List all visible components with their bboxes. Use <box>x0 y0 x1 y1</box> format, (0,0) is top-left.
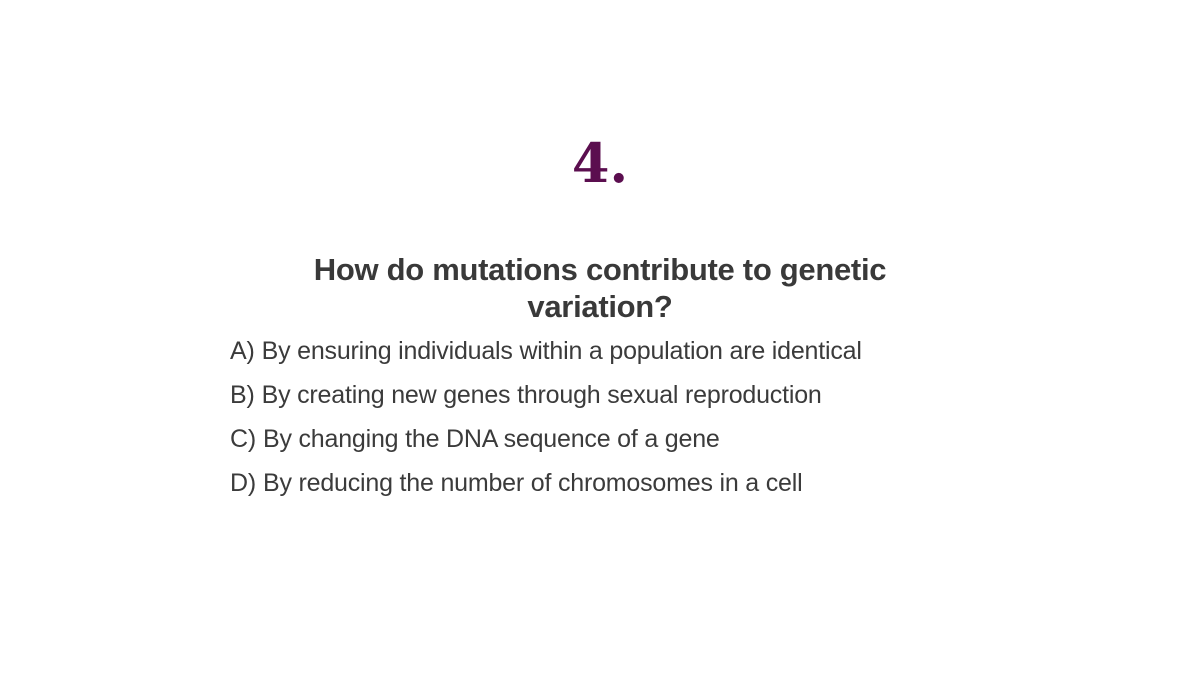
answer-option-b-text: By creating new genes through sexual rep… <box>262 381 822 409</box>
answer-options-list: A)By ensuring individuals within a popul… <box>230 334 1070 510</box>
question-heading: How do mutations contribute to genetic v… <box>270 251 930 325</box>
answer-option-d-text: By reducing the number of chromosomes in… <box>263 469 802 497</box>
question-number: 4. <box>0 136 1200 190</box>
quiz-slide: 4. How do mutations contribute to geneti… <box>0 0 1200 675</box>
answer-option-a[interactable]: A)By ensuring individuals within a popul… <box>230 334 1070 378</box>
answer-option-b-letter: B) <box>230 381 255 409</box>
answer-option-d-letter: D) <box>230 469 256 497</box>
answer-option-c[interactable]: C)By changing the DNA sequence of a gene <box>230 422 1070 466</box>
answer-option-c-letter: C) <box>230 425 256 453</box>
answer-option-c-text: By changing the DNA sequence of a gene <box>263 425 720 453</box>
answer-option-d[interactable]: D)By reducing the number of chromosomes … <box>230 466 1070 510</box>
answer-option-a-text: By ensuring individuals within a populat… <box>262 337 862 365</box>
answer-option-a-letter: A) <box>230 337 255 365</box>
answer-option-b[interactable]: B)By creating new genes through sexual r… <box>230 378 1070 422</box>
